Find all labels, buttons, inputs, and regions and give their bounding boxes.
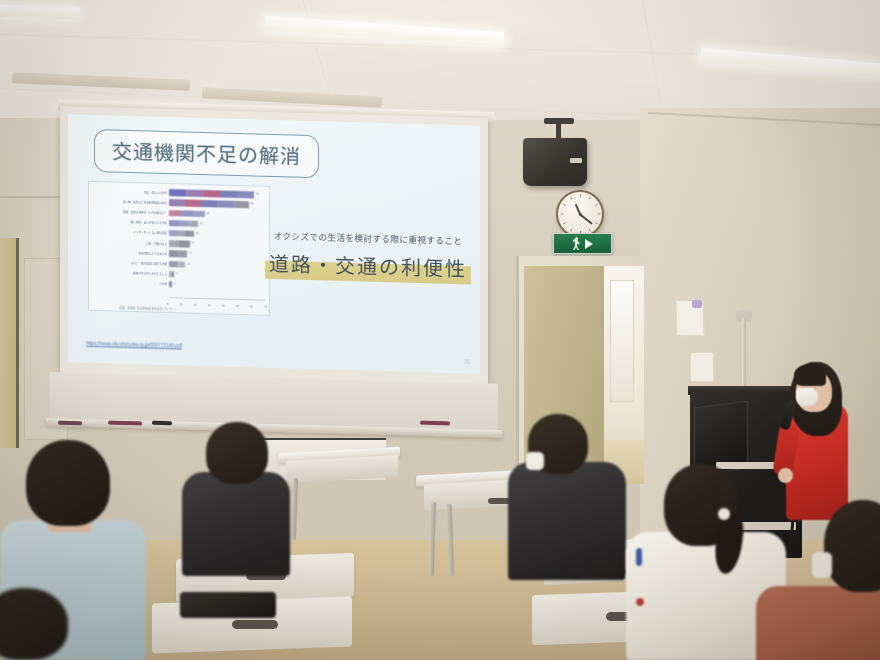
microphone-stand	[742, 318, 746, 390]
chart-x-tick-labels: 010203040506070	[167, 303, 267, 309]
presenter-face-mask	[796, 388, 818, 406]
chart-bar-value: 58	[251, 203, 254, 206]
attendee-mid-left-body	[182, 472, 290, 576]
chart-tick-label: 20	[194, 304, 197, 307]
arrow-right-icon	[585, 239, 593, 249]
chart-bar: 13	[169, 251, 187, 258]
chart-row: インターネットなど通信環境18	[169, 230, 194, 238]
marker-4	[420, 421, 450, 426]
chart-category-label: インターネットなど通信環境	[133, 230, 167, 235]
chart-row: 働く場所・収入を得られる手段21	[169, 220, 198, 228]
chair-front-left-slot	[232, 620, 278, 629]
chart-row: 道路・交通の利便性（公共交通など）26	[169, 209, 205, 217]
attendee-corner-right-body	[756, 586, 880, 660]
chart-bar: 58	[169, 200, 249, 209]
clock-center-pin	[579, 213, 582, 216]
chart-footnote: 出典：静岡市 中山間地域 移住定住 アンケート	[119, 306, 178, 312]
attendee-front-right-hairtie	[718, 508, 730, 520]
chart-bar-value: 15	[192, 242, 195, 245]
attendee-mid-center-mask	[526, 452, 544, 470]
chart-bar-value: 18	[196, 232, 199, 235]
chart-row: 地域住民とのつきあい方13	[169, 250, 187, 257]
chart-category-label: 子育て・教育環境に関する支援	[131, 261, 167, 266]
chart-x-axis	[169, 297, 265, 301]
chart-category-label: 住居・住まいの条件	[144, 190, 167, 195]
chart-bar: 18	[169, 230, 194, 237]
ceiling-projector	[523, 138, 587, 186]
clock-minute-hand	[580, 213, 594, 224]
presenter-hand	[778, 468, 793, 483]
chart-category-label: 自然・景観の良さ	[146, 241, 167, 246]
chart-tick-label: 0	[167, 303, 168, 306]
corridor-far-door	[610, 280, 634, 402]
attendee-front-right-pin2	[636, 598, 644, 606]
chart-bar: 62	[169, 189, 254, 198]
chart-category-label: 地域住民とのつきあい方	[138, 251, 167, 256]
chart-tick-label: 40	[222, 305, 225, 308]
chart-row: その他2	[169, 281, 172, 288]
chart-bar-value: 26	[207, 212, 210, 215]
presenter-hair-front	[794, 364, 826, 386]
attendee-corner-right-mask	[812, 552, 832, 578]
wall-sticker	[692, 300, 702, 308]
slide-source-url: https://www.city.shizuoka.lg.jp/00077214…	[86, 341, 182, 350]
emergency-exit-sign	[553, 233, 612, 254]
chart-row: 買い物・病院など生活利便施設の充実58	[169, 199, 249, 208]
wall-poster-2	[690, 352, 714, 382]
slide-title: 交通機関不足の解消	[112, 135, 301, 169]
chart-rows: 住居・住まいの条件62買い物・病院など生活利便施設の充実58道路・交通の利便性（…	[89, 182, 269, 187]
slide-key-wrap: 道路・交通の利便性	[264, 248, 472, 285]
chart-row: 自然・景観の良さ15	[169, 240, 190, 248]
chart-bar-value: 4	[176, 272, 177, 275]
survey-bar-chart: 住居・住まいの条件62買い物・病院など生活利便施設の充実58道路・交通の利便性（…	[88, 181, 270, 316]
bag-on-desk	[180, 592, 276, 618]
chart-category-label: 趣味や生きがいを持てること	[133, 271, 167, 276]
chart-tick-label: 30	[208, 304, 211, 307]
chart-bar: 26	[169, 210, 205, 217]
attendee-front-right-pin	[636, 548, 642, 566]
chart-bar-value: 12	[187, 262, 190, 265]
chart-tick-label: 60	[250, 305, 253, 308]
chart-row: 住居・住まいの条件62	[169, 189, 254, 198]
projector-mount-stem	[556, 122, 561, 138]
marker-3	[152, 421, 172, 426]
slide-key-phrase: 道路・交通の利便性	[265, 248, 471, 285]
chart-bar-value: 21	[200, 222, 203, 225]
chart-bar: 12	[169, 261, 185, 268]
attendee-mid-left-head	[206, 422, 268, 484]
chart-bar-value: 13	[189, 252, 192, 255]
slide-subtitle: オクシズでの生活を検討する際に重視すること	[264, 230, 472, 248]
classroom-photo: 交通機関不足の解消 住居・住まいの条件62買い物・病院など生活利便施設の充実58…	[0, 0, 880, 660]
chart-category-label: その他	[159, 282, 167, 286]
wall-clock	[556, 190, 604, 238]
projection-screen: 交通機関不足の解消 住居・住まいの条件62買い物・病院など生活利便施設の充実58…	[60, 106, 488, 386]
marker-2	[108, 421, 142, 426]
chart-row: 趣味や生きがいを持てること4	[169, 271, 174, 278]
attendee-mid-center-body	[508, 462, 626, 580]
running-person-icon	[573, 237, 582, 250]
chart-category-label: 道路・交通の利便性（公共交通など）	[123, 210, 167, 215]
marker-1	[58, 421, 82, 426]
chart-tick-label: 50	[236, 305, 239, 308]
chart-bar: 2	[169, 281, 172, 287]
attendee-front-left-head	[26, 440, 110, 526]
chart-category-label: 働く場所・収入を得られる手段	[131, 220, 167, 225]
chart-bar-value: 2	[174, 282, 175, 285]
slide-page-number: 21	[464, 359, 470, 365]
left-door-frame	[0, 238, 16, 448]
projector-lens	[570, 158, 582, 163]
chart-bar: 4	[169, 271, 174, 278]
presentation-slide: 交通機関不足の解消 住居・住まいの条件62買い物・病院など生活利便施設の充実58…	[68, 114, 480, 374]
chart-bar-value: 62	[256, 193, 259, 196]
chart-tick-label: 10	[180, 303, 183, 306]
chart-bar: 21	[169, 220, 198, 227]
chart-row: 子育て・教育環境に関する支援12	[169, 260, 185, 267]
chart-bar: 15	[169, 240, 190, 247]
left-door-edge	[16, 238, 19, 448]
slide-title-box: 交通機関不足の解消	[94, 129, 319, 178]
chart-category-label: 買い物・病院など生活利便施設の充実	[123, 199, 167, 204]
chart-tick-label: 70	[264, 306, 267, 309]
